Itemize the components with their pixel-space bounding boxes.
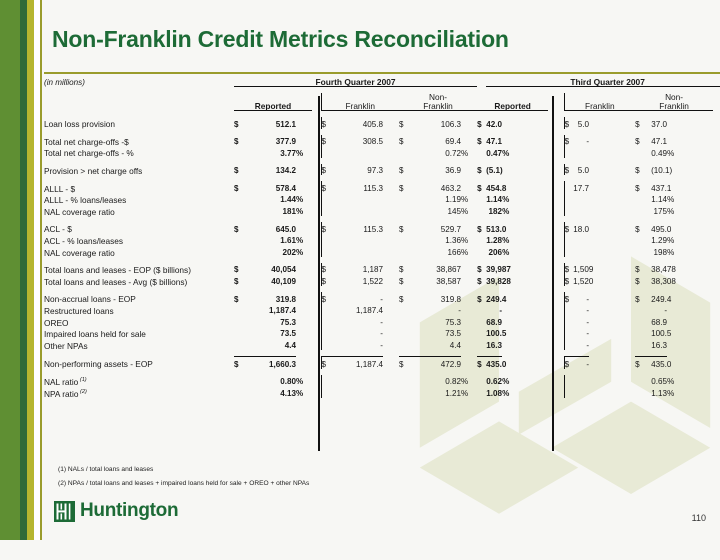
currency-symbol [234,315,250,327]
cell-q4-non-franklin: 166 [415,245,461,257]
cell-q3-non-franklin: 0.49 [651,146,667,158]
percent-symbol: % [502,375,548,387]
cell-q3-non-franklin: 1.14 [651,193,667,205]
table-sub-header-row: ReportedFranklinNon-FranklinReportedFran… [44,93,720,110]
currency-symbol: $ [477,222,486,234]
footnote-2: (2) NPAs / total loans and leases + impa… [58,480,309,487]
currency-symbol [477,386,486,398]
metrics-table-container: (in millions)Fourth Quarter 2007Third Qu… [44,78,720,478]
percent-symbol [589,181,635,193]
percent-symbol [296,135,312,147]
table-row: ACL - $$645.0$115.3$529.7$513.0$18.0$495… [44,222,720,234]
percent-symbol [461,117,477,129]
percent-symbol [383,193,399,205]
bar-white-gap-2 [42,0,44,540]
cell-q4-reported: 4.4 [250,339,296,351]
cell-q3-franklin [573,234,589,246]
percent-symbol: % [502,386,548,398]
currency-symbol: $ [321,222,337,234]
cell-q3-franklin: - [573,315,589,327]
cell-q4-franklin [337,386,383,398]
cell-q4-reported: 3.77 [250,146,296,158]
percent-symbol [461,339,477,351]
percent-symbol [296,327,312,339]
percent-symbol [667,164,713,176]
cell-q3-franklin [573,245,589,257]
percent-symbol [383,222,399,234]
cell-q3-reported: 1.08 [486,386,502,398]
column-header-q3-non-franklin: Non-Franklin [635,93,713,110]
cell-q3-reported: 249.4 [486,292,502,304]
row-label: ACL - $ [44,222,234,234]
cell-q4-franklin: 97.3 [337,164,383,176]
currency-symbol [399,375,415,387]
percent-symbol [383,357,399,369]
percent-symbol [667,292,713,304]
table-group-header-row: (in millions)Fourth Quarter 2007Third Qu… [44,78,720,87]
percent-symbol [461,263,477,275]
bar-yellow [27,0,34,540]
column-header-q4-franklin: Franklin [321,93,399,110]
currency-symbol [234,234,250,246]
table-row: ACL - % loans/leases1.61%1.36%1.28%1.29% [44,234,720,246]
currency-symbol [399,234,415,246]
percent-symbol: % [667,234,713,246]
title-divider [44,72,720,74]
percent-symbol [296,263,312,275]
currency-symbol: $ [321,181,337,193]
row-label: Loan loss provision [44,117,234,129]
cell-q3-franklin: 17.7 [573,181,589,193]
cell-q4-franklin: - [337,315,383,327]
cell-q3-franklin: 1,509 [573,263,589,275]
currency-symbol [564,193,573,205]
currency-symbol [321,234,337,246]
cell-q3-reported: 16.3 [486,339,502,351]
percent-symbol [589,263,635,275]
currency-symbol [564,386,573,398]
currency-symbol: $ [477,181,486,193]
percent-symbol [667,304,713,316]
percent-symbol [383,375,399,387]
currency-symbol: $ [234,117,250,129]
row-label: Provision > net charge offs [44,164,234,176]
table-row: NAL ratio (1)0.80%0.82%0.62%0.65% [44,375,720,387]
cell-q3-franklin: 1,520 [573,275,589,287]
currency-symbol [234,245,250,257]
currency-symbol [635,304,651,316]
percent-symbol: % [296,386,312,398]
currency-symbol: $ [399,292,415,304]
cell-q3-reported: 513.0 [486,222,502,234]
row-label: OREO [44,315,234,327]
cell-q4-franklin [337,245,383,257]
percent-symbol: % [461,146,477,158]
percent-symbol [502,181,548,193]
percent-symbol [296,357,312,369]
cell-q4-franklin: - [337,327,383,339]
percent-symbol [589,245,635,257]
page-title: Non-Franklin Credit Metrics Reconciliati… [52,26,509,53]
percent-symbol [502,304,548,316]
percent-symbol [383,315,399,327]
row-label: NPA ratio (2) [44,386,234,398]
currency-symbol [399,193,415,205]
cell-q3-reported: 0.47 [486,146,502,158]
huntington-mark-icon [54,501,75,522]
currency-symbol: $ [635,222,651,234]
cell-q4-reported: 377.9 [250,135,296,147]
percent-symbol [667,315,713,327]
currency-symbol [399,205,415,217]
percent-symbol: % [296,375,312,387]
currency-symbol: $ [399,263,415,275]
percent-symbol: % [667,375,713,387]
percent-symbol [461,315,477,327]
percent-symbol [589,386,635,398]
table-row: Impaired loans held for sale73.5-73.5100… [44,327,720,339]
bar-dark-green [20,0,27,540]
percent-symbol: % [296,205,312,217]
column-header-q4-reported: Reported [234,93,312,110]
cell-q4-franklin [337,146,383,158]
footnotes: (1) NALs / total loans and leases (2) NP… [58,466,309,494]
currency-symbol: $ [399,275,415,287]
currency-symbol [635,375,651,387]
percent-symbol [383,386,399,398]
cell-q3-franklin [573,193,589,205]
currency-symbol: $ [477,135,486,147]
percent-symbol: % [502,205,548,217]
percent-symbol: % [667,205,713,217]
currency-symbol [564,205,573,217]
percent-symbol [461,135,477,147]
cell-q3-reported: 39,828 [486,275,502,287]
column-header-q3-reported: Reported [477,93,548,110]
percent-symbol [296,339,312,351]
cell-q3-franklin [573,386,589,398]
percent-symbol: % [461,245,477,257]
percent-symbol [296,315,312,327]
cell-q4-franklin: 115.3 [337,222,383,234]
table-row: Total net charge-offs -$$377.9$308.5$69.… [44,135,720,147]
cell-q4-franklin: 308.5 [337,135,383,147]
currency-symbol [635,339,651,351]
percent-symbol: % [461,375,477,387]
table-row: ALLL - % loans/leases1.44%1.19%1.14%1.14… [44,193,720,205]
cell-q4-non-franklin: - [415,304,461,316]
cell-q3-reported: 1.14 [486,193,502,205]
table-row: Provision > net charge offs$134.2$97.3$3… [44,164,720,176]
left-edge-decoration [0,0,44,540]
cell-q4-reported: 202 [250,245,296,257]
table-row: Total net charge-offs - %3.77%0.72%0.47%… [44,146,720,158]
percent-symbol: % [502,146,548,158]
cell-q4-franklin: 1,187.4 [337,304,383,316]
cell-q4-reported: 181 [250,205,296,217]
row-label: Impaired loans held for sale [44,327,234,339]
percent-symbol: % [461,205,477,217]
currency-symbol: $ [635,263,651,275]
percent-symbol [667,222,713,234]
cell-q3-franklin: - [573,357,589,369]
cell-q4-non-franklin: 529.7 [415,222,461,234]
percent-symbol [383,292,399,304]
cell-q4-non-franklin: 0.82 [415,375,461,387]
currency-symbol: $ [321,135,337,147]
currency-symbol: $ [564,135,573,147]
table-row: Non-performing assets - EOP$1,660.3$1,18… [44,357,720,369]
percent-symbol: % [667,193,713,205]
cell-q3-reported: 100.5 [486,327,502,339]
group-header-q3: Third Quarter 2007 [486,78,720,87]
row-label: Total loans and leases - Avg ($ billions… [44,275,234,287]
percent-symbol [383,327,399,339]
percent-symbol [296,164,312,176]
cell-q4-franklin: - [337,292,383,304]
cell-q3-non-franklin: 0.65 [651,375,667,387]
cell-q3-non-franklin: 16.3 [651,339,667,351]
percent-symbol [667,357,713,369]
row-label: Total net charge-offs -$ [44,135,234,147]
cell-q4-non-franklin: 472.9 [415,357,461,369]
footnote-marker: (1) [78,377,86,383]
percent-symbol: % [667,146,713,158]
cell-q4-reported: 319.8 [250,292,296,304]
currency-symbol [564,315,573,327]
currency-symbol [635,315,651,327]
cell-q4-franklin [337,193,383,205]
cell-q3-non-franklin: 495.0 [651,222,667,234]
currency-symbol: $ [399,117,415,129]
cell-q4-non-franklin: 36.9 [415,164,461,176]
currency-symbol: $ [635,181,651,193]
currency-symbol: $ [234,263,250,275]
currency-symbol [635,234,651,246]
percent-symbol [589,292,635,304]
currency-symbol [321,205,337,217]
currency-symbol [321,315,337,327]
currency-symbol: $ [564,357,573,369]
cell-q3-franklin: - [573,339,589,351]
percent-symbol [589,375,635,387]
currency-symbol [635,245,651,257]
currency-symbol [477,327,486,339]
cell-q3-non-franklin: 100.5 [651,327,667,339]
cell-q3-franklin [573,375,589,387]
currency-symbol [399,327,415,339]
currency-symbol [564,234,573,246]
percent-symbol [296,222,312,234]
percent-symbol [667,117,713,129]
percent-symbol [383,339,399,351]
percent-symbol: % [502,234,548,246]
percent-symbol: % [296,245,312,257]
currency-symbol: $ [635,117,651,129]
currency-symbol [564,375,573,387]
currency-symbol: $ [399,357,415,369]
cell-q4-franklin: 1,522 [337,275,383,287]
table-row: Non-accrual loans - EOP$319.8$-$319.8$24… [44,292,720,304]
percent-symbol [667,181,713,193]
percent-symbol: % [296,146,312,158]
cell-q3-reported: 47.1 [486,135,502,147]
currency-symbol [399,146,415,158]
footnote-marker: (2) [78,389,86,395]
currency-symbol: $ [234,222,250,234]
bar-green [0,0,20,540]
currency-symbol [234,339,250,351]
currency-symbol [477,339,486,351]
currency-symbol [399,245,415,257]
row-label: Total net charge-offs - % [44,146,234,158]
page-number: 110 [692,513,706,523]
row-label: NAL coverage ratio [44,205,234,217]
table-row: Loan loss provision$512.1$405.8$106.3$42… [44,117,720,129]
cell-q3-reported: 206 [486,245,502,257]
currency-symbol: $ [234,275,250,287]
percent-symbol: % [296,193,312,205]
cell-q3-franklin [573,205,589,217]
currency-symbol [477,205,486,217]
row-label: Other NPAs [44,339,234,351]
cell-q3-reported: 1.28 [486,234,502,246]
row-label: Non-performing assets - EOP [44,357,234,369]
table-row: NAL coverage ratio202%166%206%198% [44,245,720,257]
column-header-q3-franklin: Franklin [564,93,635,110]
cell-q4-reported: 40,109 [250,275,296,287]
table-row: NAL coverage ratio181%145%182%175% [44,205,720,217]
percent-symbol [461,327,477,339]
row-label: NAL ratio (1) [44,375,234,387]
percent-symbol [589,275,635,287]
cell-q3-franklin: - [573,292,589,304]
cell-q4-non-franklin: 106.3 [415,117,461,129]
percent-symbol [589,315,635,327]
cell-q4-franklin [337,234,383,246]
currency-symbol [234,375,250,387]
percent-symbol [502,222,548,234]
percent-symbol [589,222,635,234]
currency-symbol [234,193,250,205]
units-note: (in millions) [44,78,234,87]
percent-symbol [589,117,635,129]
cell-q3-non-franklin: 435.0 [651,357,667,369]
cell-q3-non-franklin: 38,308 [651,275,667,287]
cell-q4-non-franklin: 1.21 [415,386,461,398]
percent-symbol [461,164,477,176]
cell-q3-reported: 435.0 [486,357,502,369]
currency-symbol: $ [234,135,250,147]
cell-q3-franklin: 5.0 [573,164,589,176]
cell-q3-non-franklin: (10.1) [651,164,667,176]
currency-symbol [564,146,573,158]
row-label: ALLL - % loans/leases [44,193,234,205]
cell-q4-non-franklin: 0.72 [415,146,461,158]
cell-q3-reported: - [486,304,502,316]
currency-symbol [564,327,573,339]
cell-q4-non-franklin: 38,867 [415,263,461,275]
currency-symbol: $ [564,263,573,275]
percent-symbol [383,181,399,193]
percent-symbol [383,234,399,246]
currency-symbol [321,304,337,316]
row-label: NAL coverage ratio [44,245,234,257]
percent-symbol: % [296,234,312,246]
footnote-1: (1) NALs / total loans and leases [58,466,309,473]
percent-symbol [667,135,713,147]
cell-q3-non-franklin: 38,478 [651,263,667,275]
currency-symbol [477,375,486,387]
cell-q3-non-franklin: 175 [651,205,667,217]
currency-symbol [477,304,486,316]
cell-q3-franklin: - [573,135,589,147]
percent-symbol [383,304,399,316]
credit-metrics-table: (in millions)Fourth Quarter 2007Third Qu… [44,78,720,398]
currency-symbol: $ [635,357,651,369]
percent-symbol: % [502,193,548,205]
percent-symbol: % [461,386,477,398]
currency-symbol: $ [564,275,573,287]
currency-symbol: $ [234,181,250,193]
percent-symbol [383,135,399,147]
column-separator-2 [552,96,554,451]
column-header-q4-non-franklin: Non-Franklin [399,93,477,110]
cell-q4-franklin [337,375,383,387]
percent-symbol [383,245,399,257]
currency-symbol: $ [564,117,573,129]
table-row: NPA ratio (2)4.13%1.21%1.08%1.13% [44,386,720,398]
cell-q4-franklin: 1,187.4 [337,357,383,369]
cell-q4-reported: 1,660.3 [250,357,296,369]
cell-q4-non-franklin: 69.4 [415,135,461,147]
percent-symbol: % [461,234,477,246]
currency-symbol: $ [635,164,651,176]
currency-symbol: $ [321,263,337,275]
percent-symbol [502,315,548,327]
percent-symbol [296,181,312,193]
currency-symbol: $ [477,117,486,129]
cell-q4-non-franklin: 75.3 [415,315,461,327]
percent-symbol [461,275,477,287]
row-label: ACL - % loans/leases [44,234,234,246]
currency-symbol [635,327,651,339]
currency-symbol: $ [477,164,486,176]
currency-symbol: $ [399,164,415,176]
currency-symbol: $ [477,292,486,304]
table-row: OREO75.3-75.368.9-68.9 [44,315,720,327]
cell-q4-franklin: 1,187 [337,263,383,275]
row-label: ALLL - $ [44,181,234,193]
huntington-logo: Huntington [54,500,178,522]
cell-q4-reported: 578.4 [250,181,296,193]
percent-symbol [461,304,477,316]
percent-symbol [589,193,635,205]
percent-symbol [502,292,548,304]
column-separator-1 [318,96,320,451]
percent-symbol [589,327,635,339]
currency-symbol [399,386,415,398]
cell-q4-franklin: 115.3 [337,181,383,193]
cell-q3-franklin: - [573,304,589,316]
currency-symbol: $ [321,164,337,176]
percent-symbol [502,164,548,176]
percent-symbol [461,181,477,193]
currency-symbol [564,245,573,257]
currency-symbol [399,304,415,316]
currency-symbol: $ [564,292,573,304]
currency-symbol [234,304,250,316]
